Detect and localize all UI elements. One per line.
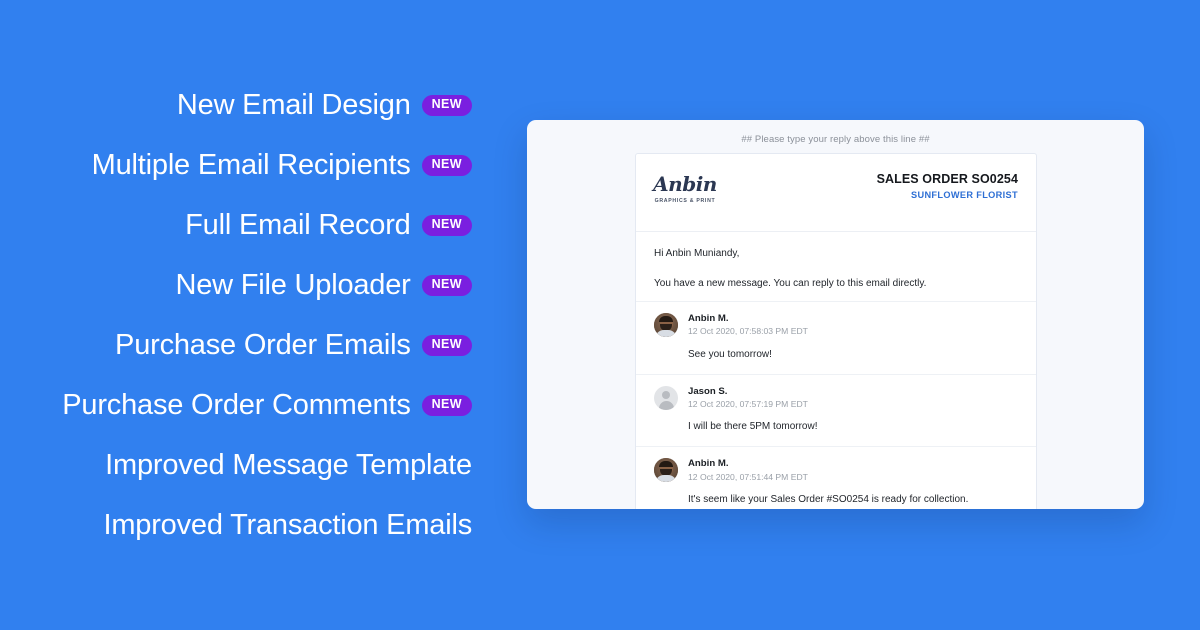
- message-thread: Anbin M. 12 Oct 2020, 07:58:03 PM EDT Se…: [636, 301, 1036, 509]
- feature-item: Purchase Order Comments NEW: [0, 375, 472, 435]
- feature-list: New Email Design NEW Multiple Email Reci…: [0, 0, 500, 630]
- reply-above-line-hint: ## Please type your reply above this lin…: [527, 120, 1144, 157]
- message-author: Anbin M.: [688, 458, 1018, 470]
- document-heading: SALES ORDER SO0254 SUNFLOWER FLORIST: [877, 170, 1018, 200]
- feature-label: Improved Message Template: [105, 451, 472, 480]
- new-badge: NEW: [422, 335, 472, 356]
- logo-wordmark: Anbin: [653, 174, 717, 194]
- logo-tagline: GRAPHICS & PRINT: [655, 198, 716, 204]
- message-item: Jason S. 12 Oct 2020, 07:57:19 PM EDT I …: [636, 374, 1036, 447]
- message-text: See you tomorrow!: [688, 347, 1018, 362]
- new-badge: NEW: [422, 95, 472, 116]
- feature-item: New Email Design NEW: [0, 75, 472, 135]
- company-logo: Anbin GRAPHICS & PRINT: [654, 170, 716, 204]
- message-text: I will be there 5PM tomorrow!: [688, 419, 1018, 434]
- new-badge: NEW: [422, 155, 472, 176]
- new-badge: NEW: [422, 395, 472, 416]
- feature-label: Improved Transaction Emails: [103, 511, 472, 540]
- feature-item: Improved Message Template: [0, 435, 472, 495]
- feature-item: Purchase Order Emails NEW: [0, 315, 472, 375]
- avatar: [654, 313, 678, 337]
- message-author: Anbin M.: [688, 313, 1018, 325]
- feature-label: Purchase Order Emails: [115, 331, 411, 360]
- greeting-text: Hi Anbin Muniandy,: [654, 246, 1018, 262]
- message-timestamp: 12 Oct 2020, 07:57:19 PM EDT: [688, 399, 1018, 410]
- letter-header: Anbin GRAPHICS & PRINT SALES ORDER SO025…: [636, 154, 1036, 232]
- feature-label: New File Uploader: [175, 271, 410, 300]
- feature-label: New Email Design: [177, 91, 411, 120]
- company-name: SUNFLOWER FLORIST: [877, 190, 1018, 200]
- message-item: Anbin M. 12 Oct 2020, 07:58:03 PM EDT Se…: [636, 301, 1036, 374]
- message-item: Anbin M. 12 Oct 2020, 07:51:44 PM EDT It…: [636, 446, 1036, 509]
- feature-item: Multiple Email Recipients NEW: [0, 135, 472, 195]
- feature-label: Multiple Email Recipients: [92, 151, 411, 180]
- greeting-block: Hi Anbin Muniandy, You have a new messag…: [636, 232, 1036, 301]
- intro-text: You have a new message. You can reply to…: [654, 276, 1018, 292]
- feature-item: Full Email Record NEW: [0, 195, 472, 255]
- feature-label: Purchase Order Comments: [62, 391, 410, 420]
- new-badge: NEW: [422, 215, 472, 236]
- message-timestamp: 12 Oct 2020, 07:58:03 PM EDT: [688, 326, 1018, 337]
- new-badge: NEW: [422, 275, 472, 296]
- avatar: [654, 458, 678, 482]
- avatar-placeholder-icon: [654, 386, 678, 410]
- email-preview-card: ## Please type your reply above this lin…: [527, 120, 1144, 509]
- email-letter-panel: Anbin GRAPHICS & PRINT SALES ORDER SO025…: [635, 153, 1037, 509]
- message-text: It's seem like your Sales Order #SO0254 …: [688, 492, 1018, 507]
- feature-item: Improved Transaction Emails: [0, 495, 472, 555]
- document-title: SALES ORDER SO0254: [877, 172, 1018, 188]
- message-author: Jason S.: [688, 386, 1018, 398]
- feature-label: Full Email Record: [185, 211, 410, 240]
- message-timestamp: 12 Oct 2020, 07:51:44 PM EDT: [688, 472, 1018, 483]
- feature-item: New File Uploader NEW: [0, 255, 472, 315]
